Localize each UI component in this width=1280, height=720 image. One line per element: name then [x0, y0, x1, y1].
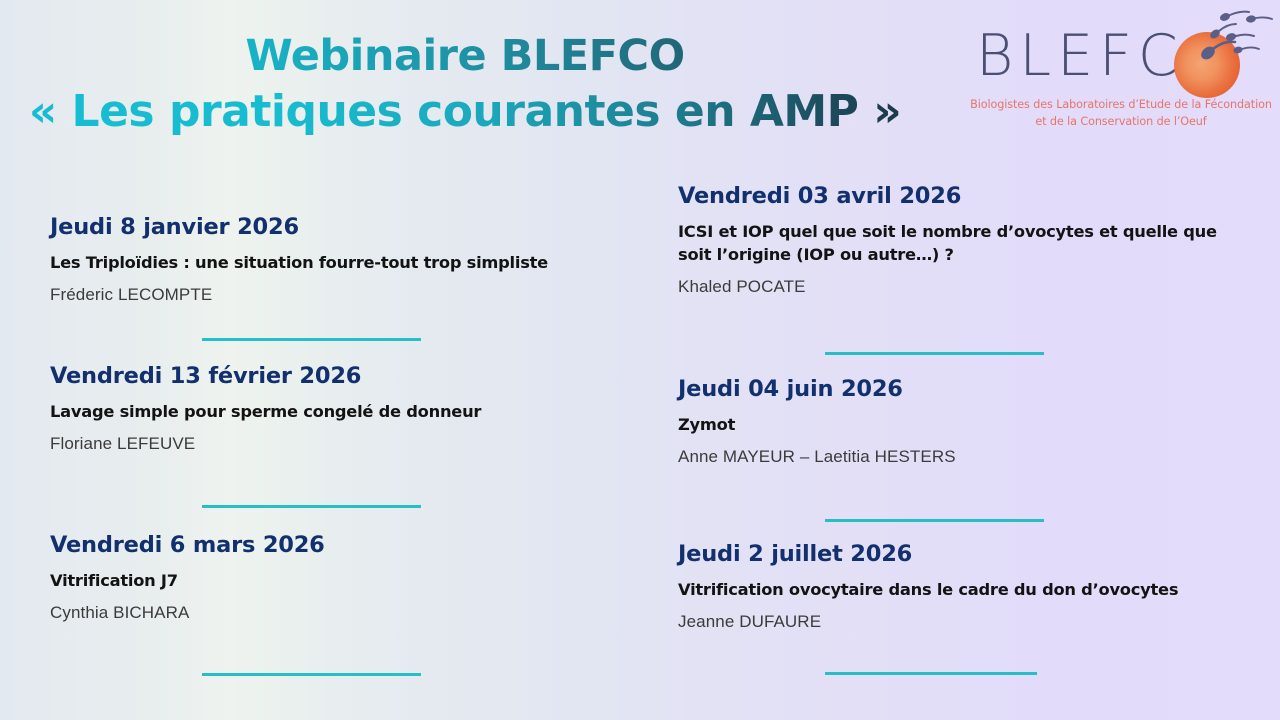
- session-divider: [825, 519, 1044, 522]
- session-speaker: Jeanne DUFAURE: [678, 611, 1250, 633]
- session-divider: [202, 505, 421, 508]
- session-date: Jeudi 04 juin 2026: [678, 375, 1250, 403]
- logo-subtitle-line-2: et de la Conservation de l’Oeuf: [962, 113, 1280, 130]
- sperm-cells-icon: [1194, 4, 1280, 76]
- session-item[interactable]: Jeudi 8 janvier 2026 Les Triploïdies : u…: [50, 213, 650, 306]
- session-topic: Vitrification J7: [50, 569, 650, 592]
- blefco-logo: BLEFC: [962, 4, 1280, 144]
- webinar-program-slide: Webinaire BLEFCO « Les pratiques courant…: [0, 0, 1280, 720]
- session-date: Vendredi 13 février 2026: [50, 362, 650, 390]
- session-topic: Zymot: [678, 413, 1250, 436]
- session-date: Jeudi 8 janvier 2026: [50, 213, 650, 241]
- session-topic: Vitrification ovocytaire dans le cadre d…: [678, 578, 1250, 601]
- session-item[interactable]: Jeudi 2 juillet 2026 Vitrification ovocy…: [678, 540, 1250, 633]
- session-divider: [825, 672, 1037, 675]
- session-speaker: Floriane LEFEUVE: [50, 433, 650, 455]
- session-item[interactable]: Vendredi 13 février 2026 Lavage simple p…: [50, 362, 650, 455]
- blefco-logo-subtitle: Biologistes des Laboratoires d’Etude de …: [962, 96, 1280, 130]
- session-date: Vendredi 6 mars 2026: [50, 531, 650, 559]
- session-date: Jeudi 2 juillet 2026: [678, 540, 1250, 568]
- blefco-wordmark-text: BLEFC: [976, 26, 1184, 86]
- session-topic: ICSI et IOP quel que soit le nombre d’ov…: [678, 220, 1250, 266]
- logo-subtitle-line-1: Biologistes des Laboratoires d’Etude de …: [970, 98, 1272, 111]
- session-divider: [825, 352, 1044, 355]
- session-topic: Les Triploïdies : une situation fourre-t…: [50, 251, 650, 274]
- session-speaker: Cynthia BICHARA: [50, 602, 650, 624]
- title-line-secondary: « Les pratiques courantes en AMP »: [0, 84, 930, 140]
- session-item[interactable]: Vendredi 03 avril 2026 ICSI et IOP quel …: [678, 182, 1250, 298]
- session-divider: [202, 673, 421, 676]
- session-topic: Lavage simple pour sperme congelé de don…: [50, 400, 650, 423]
- session-speaker: Anne MAYEUR – Laetitia HESTERS: [678, 446, 1250, 468]
- session-item[interactable]: Jeudi 04 juin 2026 Zymot Anne MAYEUR – L…: [678, 375, 1250, 468]
- session-speaker: Khaled POCATE: [678, 276, 1250, 298]
- title-line-primary: Webinaire BLEFCO: [0, 28, 930, 84]
- session-speaker: Fréderic LECOMPTE: [50, 284, 650, 306]
- page-title: Webinaire BLEFCO « Les pratiques courant…: [0, 28, 930, 140]
- session-item[interactable]: Vendredi 6 mars 2026 Vitrification J7 Cy…: [50, 531, 650, 624]
- session-date: Vendredi 03 avril 2026: [678, 182, 1250, 210]
- session-divider: [202, 338, 421, 341]
